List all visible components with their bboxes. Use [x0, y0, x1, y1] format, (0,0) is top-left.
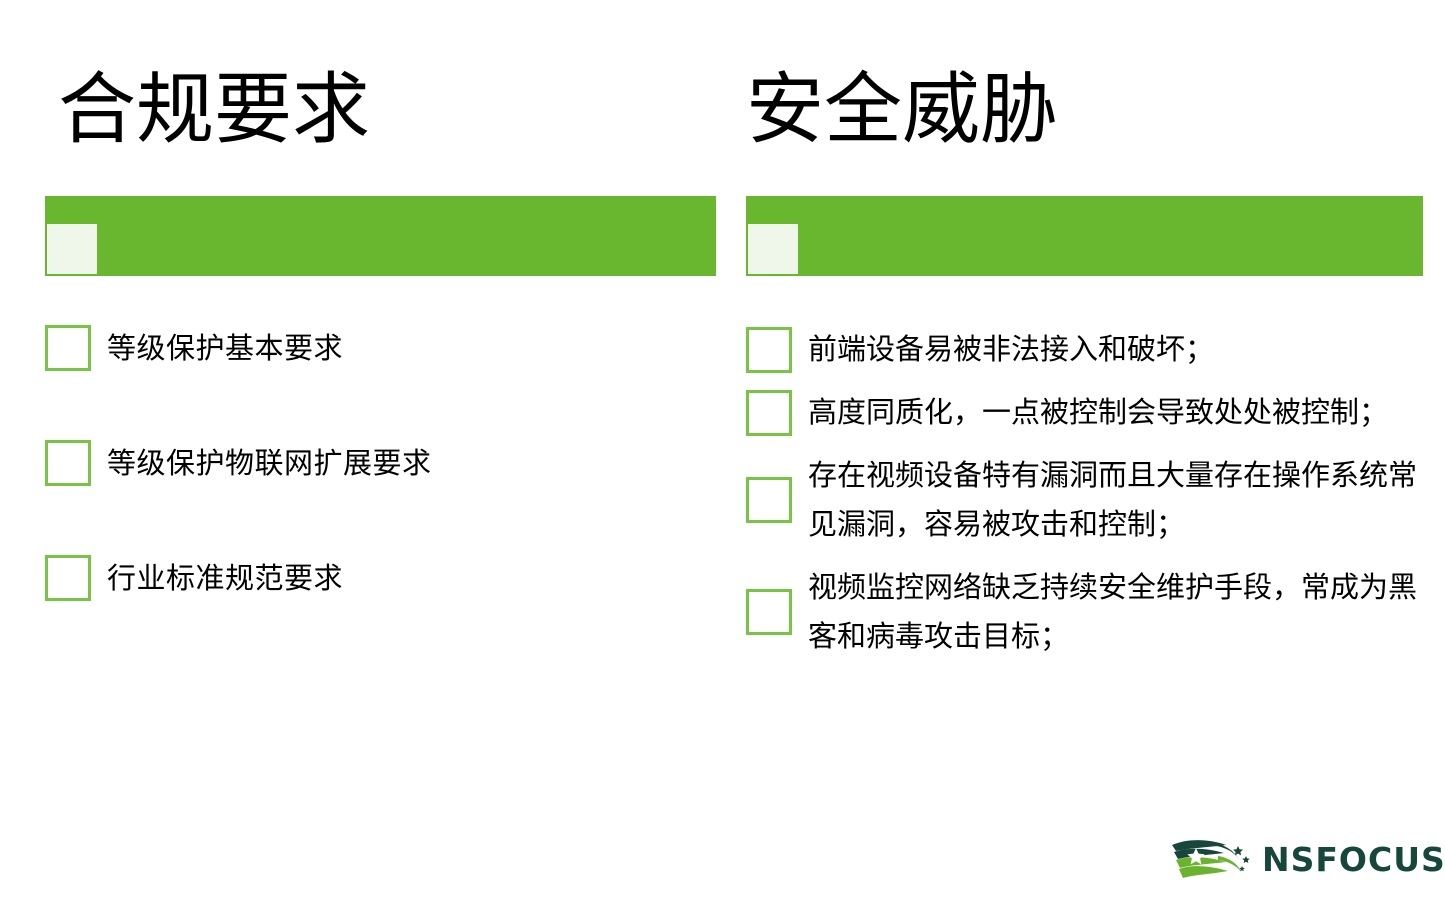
checkbox-icon[interactable] — [45, 440, 91, 486]
slide-canvas: 合规要求 等级保护基本要求 等级保护物联网扩展要求 行业标准规范要求 安全威胁 — [0, 0, 1445, 900]
list-item[interactable]: 行业标准规范要求 — [45, 555, 715, 601]
left-column-list: 等级保护基本要求 等级保护物联网扩展要求 行业标准规范要求 — [45, 325, 715, 601]
list-item[interactable]: 等级保护基本要求 — [45, 325, 715, 371]
list-item-label: 等级保护物联网扩展要求 — [107, 440, 432, 486]
right-column-list: 前端设备易被非法接入和破坏； 高度同质化，一点被控制会导致处处被控制； 存在视频… — [746, 325, 1436, 675]
list-item-label: 行业标准规范要求 — [107, 555, 343, 601]
left-column-banner — [45, 196, 716, 276]
list-item[interactable]: 视频监控网络缺乏持续安全维护手段，常成为黑客和病毒攻击目标； — [746, 563, 1436, 661]
checkbox-icon[interactable] — [45, 555, 91, 601]
nsfocus-eagle-flag-icon — [1168, 834, 1260, 884]
banner-notch-square — [47, 224, 97, 274]
nsfocus-wordmark: NSFOCUS — [1262, 843, 1445, 876]
list-item-label: 存在视频设备特有漏洞而且大量存在操作系统常见漏洞，容易被攻击和控制； — [808, 451, 1436, 549]
checkbox-icon[interactable] — [746, 390, 792, 436]
banner-notch-square — [748, 224, 798, 274]
right-column-banner — [746, 196, 1423, 276]
left-column-title: 合规要求 — [58, 62, 370, 158]
checkbox-icon[interactable] — [746, 477, 792, 523]
left-column: 合规要求 等级保护基本要求 等级保护物联网扩展要求 行业标准规范要求 — [0, 0, 730, 900]
list-item[interactable]: 存在视频设备特有漏洞而且大量存在操作系统常见漏洞，容易被攻击和控制； — [746, 451, 1436, 549]
list-item-label: 视频监控网络缺乏持续安全维护手段，常成为黑客和病毒攻击目标； — [808, 563, 1436, 661]
list-item-label: 高度同质化，一点被控制会导致处处被控制； — [808, 388, 1388, 437]
right-column-title: 安全威胁 — [746, 62, 1058, 158]
checkbox-icon[interactable] — [746, 327, 792, 373]
nsfocus-logo: NSFOCUS — [1168, 833, 1426, 885]
list-item[interactable]: 高度同质化，一点被控制会导致处处被控制； — [746, 388, 1436, 437]
checkbox-icon[interactable] — [746, 589, 792, 635]
checkbox-icon[interactable] — [45, 325, 91, 371]
right-column: 安全威胁 前端设备易被非法接入和破坏； 高度同质化，一点被控制会导致处处被控制；… — [730, 0, 1445, 900]
list-item-label: 前端设备易被非法接入和破坏； — [808, 325, 1214, 374]
list-item[interactable]: 等级保护物联网扩展要求 — [45, 440, 715, 486]
list-item-label: 等级保护基本要求 — [107, 325, 343, 371]
list-item[interactable]: 前端设备易被非法接入和破坏； — [746, 325, 1436, 374]
